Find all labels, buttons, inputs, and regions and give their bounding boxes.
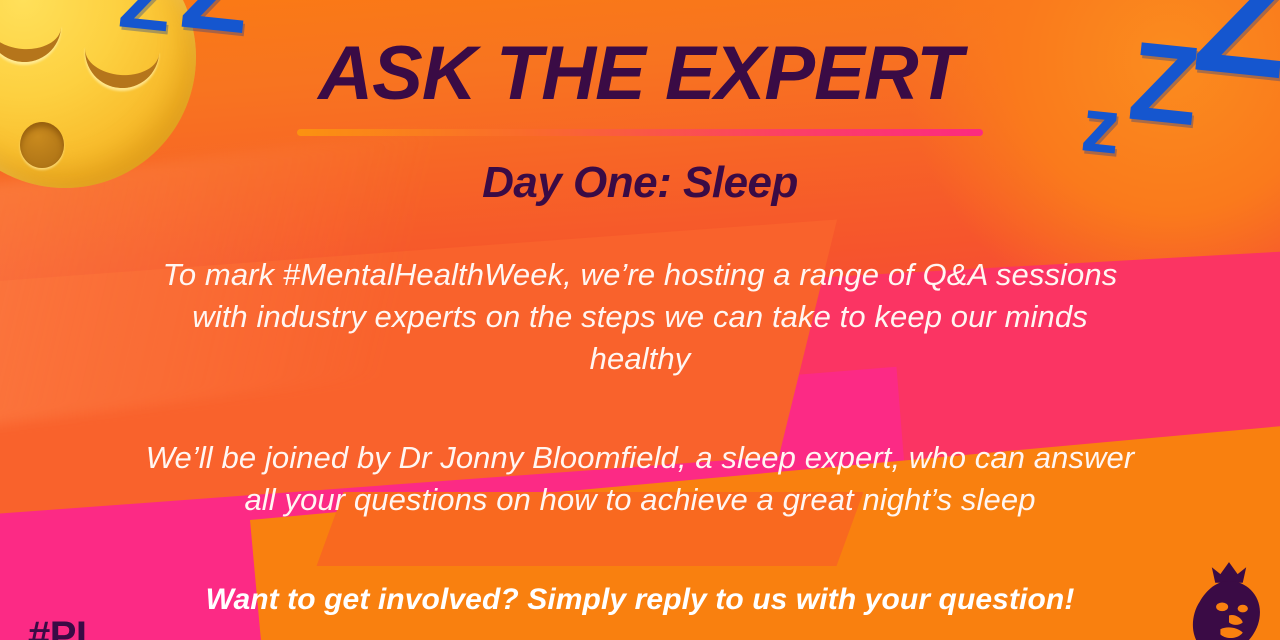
title-divider [297,129,983,136]
call-to-action-text: Want to get involved? Simply reply to us… [80,583,1200,617]
hashtag-label: #PL [28,614,100,640]
content-block: ASK THE EXPERT Day One: Sleep To mark #M… [0,0,1280,640]
ask-the-expert-graphic: Z Z z Z Z ASK THE EXPERT Day One: Sleep … [0,0,1280,640]
body-paragraph-2: We’ll be joined by Dr Jonny Bloomfield, … [140,437,1140,521]
premier-league-lion-logo [1186,560,1272,640]
page-subtitle: Day One: Sleep [80,158,1200,208]
body-paragraph-1: To mark #MentalHealthWeek, we’re hosting… [140,254,1140,380]
page-title: ASK THE EXPERT [80,34,1200,113]
